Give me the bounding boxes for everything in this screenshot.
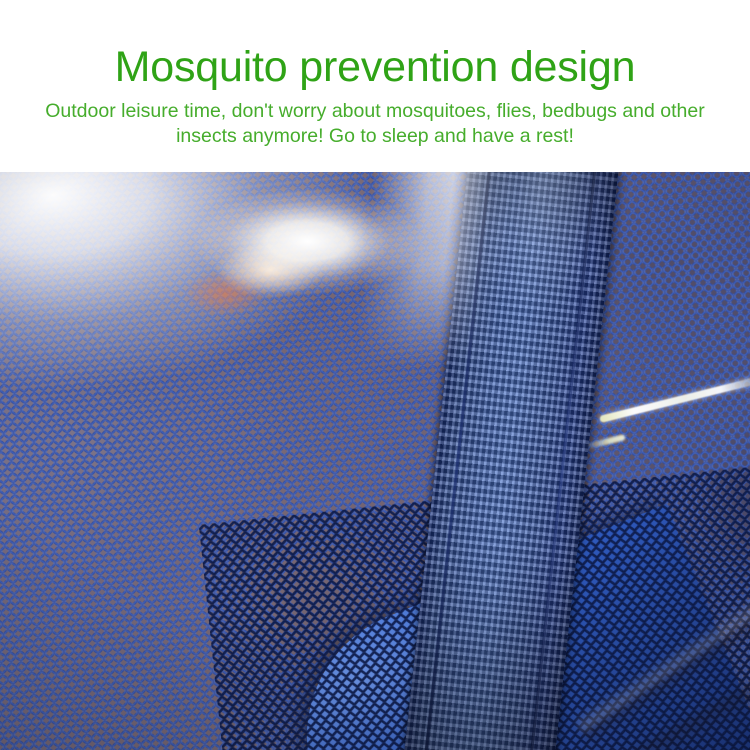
promo-subcopy: Outdoor leisure time, don't worry about …: [0, 99, 750, 149]
product-photo: [0, 172, 750, 750]
page-title: Mosquito prevention design: [0, 42, 750, 92]
subcopy-line-2: insects anymore! Go to sleep and have a …: [0, 124, 750, 149]
promo-header: Mosquito prevention design Outdoor leisu…: [0, 0, 750, 172]
product-promo-image: Mosquito prevention design Outdoor leisu…: [0, 0, 750, 750]
photo-vignette: [0, 172, 750, 750]
subcopy-line-1: Outdoor leisure time, don't worry about …: [0, 99, 750, 124]
